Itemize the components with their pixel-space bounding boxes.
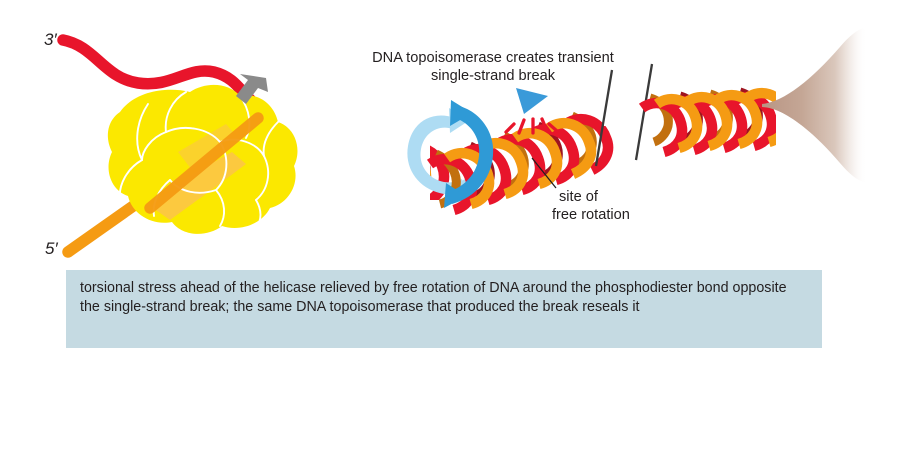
caption-text: torsional stress ahead of the helicase r… (80, 279, 808, 318)
caption-box: torsional stress ahead of the helicase r… (66, 270, 822, 348)
figure-canvas: 3′ 5′ DNA topoisomerase creates transien… (0, 0, 900, 460)
topoisomerase-annotation-line1: DNA topoisomerase creates transient (372, 50, 614, 66)
five-prime-label: 5′ (45, 239, 58, 258)
double-slash-break-icon (596, 62, 652, 174)
blue-triangle-arrowhead-icon (516, 88, 548, 114)
site-of-free-rotation-line2: free rotation (552, 207, 630, 223)
site-of-free-rotation-line1: site of (559, 189, 599, 205)
helicase-blob-icon (108, 85, 298, 234)
dna-topoisomerase-diagram: 3′ 5′ DNA topoisomerase creates transien… (0, 0, 900, 460)
dna-double-helix-right (642, 92, 787, 152)
three-prime-label: 3′ (44, 30, 57, 49)
tan-cone-overlap (762, 28, 866, 182)
topoisomerase-annotation-line2: single-strand break (431, 68, 556, 84)
